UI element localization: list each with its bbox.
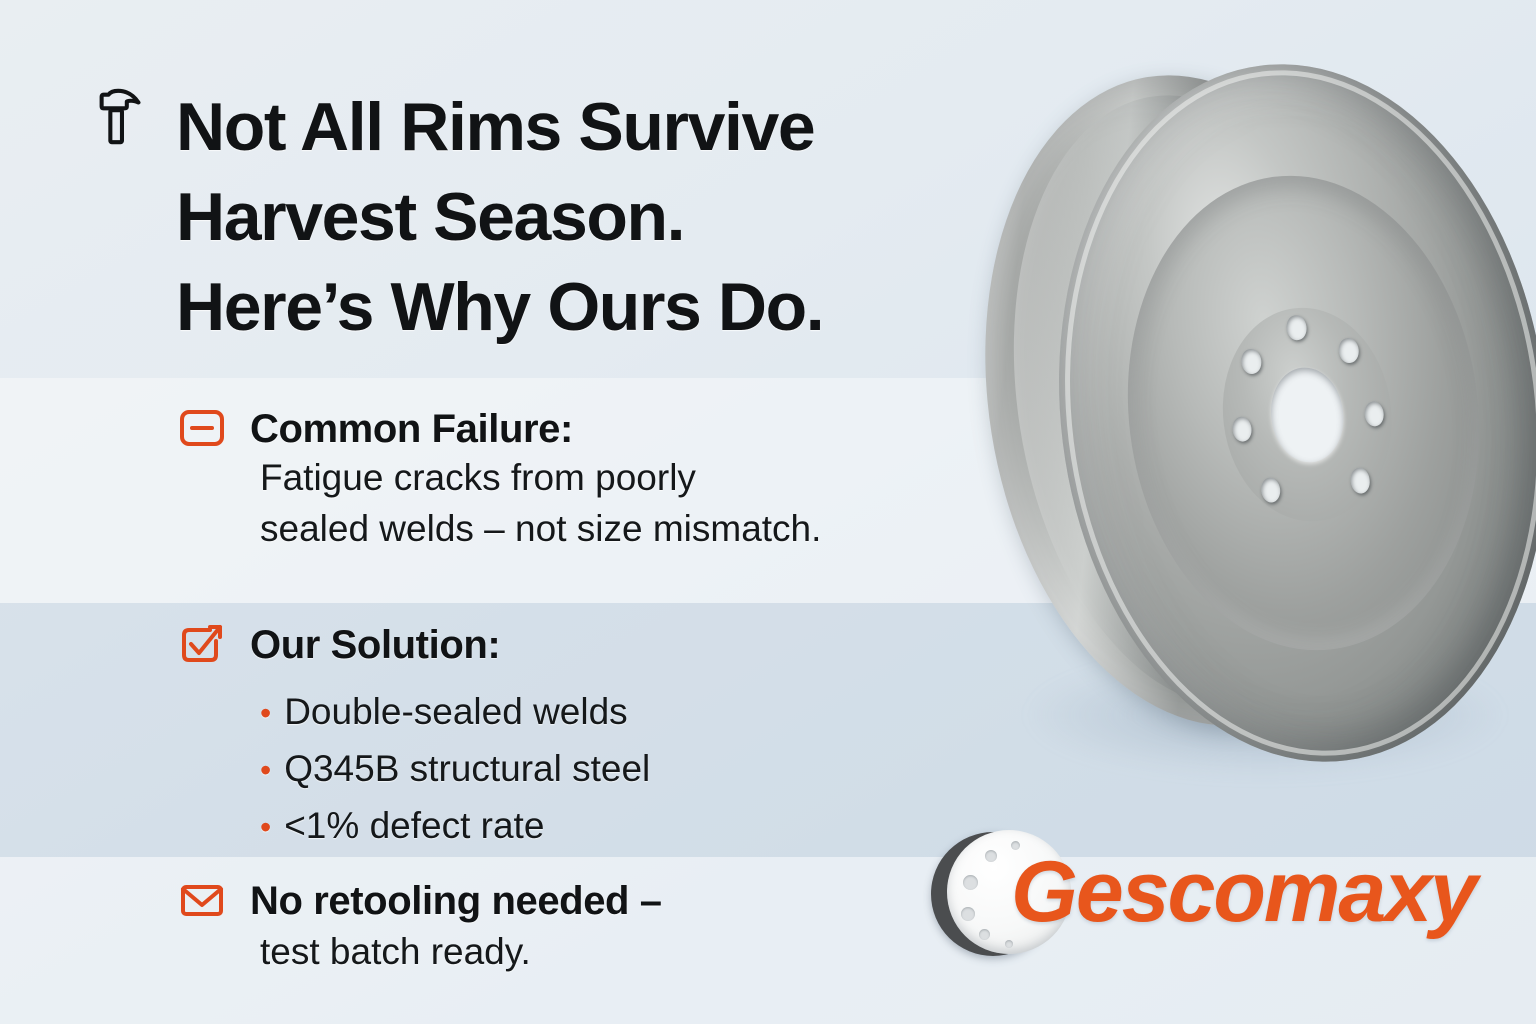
logo-bolt-hole	[985, 850, 997, 862]
block-cta-body: test batch ready.	[260, 926, 662, 977]
hammer-icon	[90, 86, 152, 148]
brand-wordmark: Gescomaxy	[1011, 836, 1476, 948]
block-our-solution-title: Our Solution:	[250, 623, 500, 668]
bolt-hole	[1349, 467, 1371, 494]
headline-line-1: Not All Rims Survive	[176, 82, 966, 172]
body-line-2: sealed welds – not size mismatch.	[260, 503, 821, 554]
wheel-drop-well	[1101, 155, 1506, 670]
bolt-hole	[1259, 477, 1281, 504]
envelope-icon	[178, 878, 228, 924]
block-common-failure-body: Fatigue cracks from poorly sealed welds …	[260, 452, 821, 554]
bolt-hole	[1285, 314, 1307, 341]
block-common-failure-title: Common Failure:	[250, 407, 573, 452]
bolt-hole	[1363, 400, 1385, 427]
bolt-hole	[1240, 347, 1262, 374]
headline-line-3: Here’s Why Ours Do.	[176, 262, 966, 352]
solution-bullet-list: Double-sealed welds Q345B structural ste…	[260, 684, 650, 855]
block-cta-header: No retooling needed –	[178, 878, 662, 924]
logo-bolt-hole	[963, 875, 978, 890]
body-line-1: test batch ready.	[260, 926, 662, 977]
logo-bolt-hole	[979, 929, 990, 940]
list-item: <1% defect rate	[260, 798, 650, 855]
headline-line-2: Harvest Season.	[176, 172, 966, 262]
logo-bolt-hole	[961, 907, 975, 921]
block-our-solution-header: Our Solution:	[178, 622, 650, 668]
list-item: Q345B structural steel	[260, 741, 650, 798]
wheel-center-bore	[1266, 364, 1349, 466]
minus-square-icon	[178, 406, 228, 452]
check-square-arrow-icon	[178, 622, 228, 668]
list-item: Double-sealed welds	[260, 684, 650, 741]
block-common-failure-header: Common Failure:	[178, 406, 821, 452]
bolt-hole	[1338, 337, 1360, 364]
bolt-hole	[1231, 415, 1253, 442]
block-cta: No retooling needed – test batch ready.	[178, 878, 662, 977]
brand-logo: Gescomaxy	[925, 818, 1470, 968]
page-title: Not All Rims Survive Harvest Season. Her…	[176, 82, 966, 352]
marketing-poster: Not All Rims Survive Harvest Season. Her…	[0, 0, 1536, 1024]
steel-wheel-rim-image	[975, 55, 1536, 825]
block-cta-title: No retooling needed –	[250, 879, 662, 924]
body-line-1: Fatigue cracks from poorly	[260, 452, 821, 503]
wheel-hub-plate	[1211, 298, 1403, 531]
block-our-solution: Our Solution: Double-sealed welds Q345B …	[178, 622, 650, 855]
block-common-failure: Common Failure: Fatigue cracks from poor…	[178, 406, 821, 554]
